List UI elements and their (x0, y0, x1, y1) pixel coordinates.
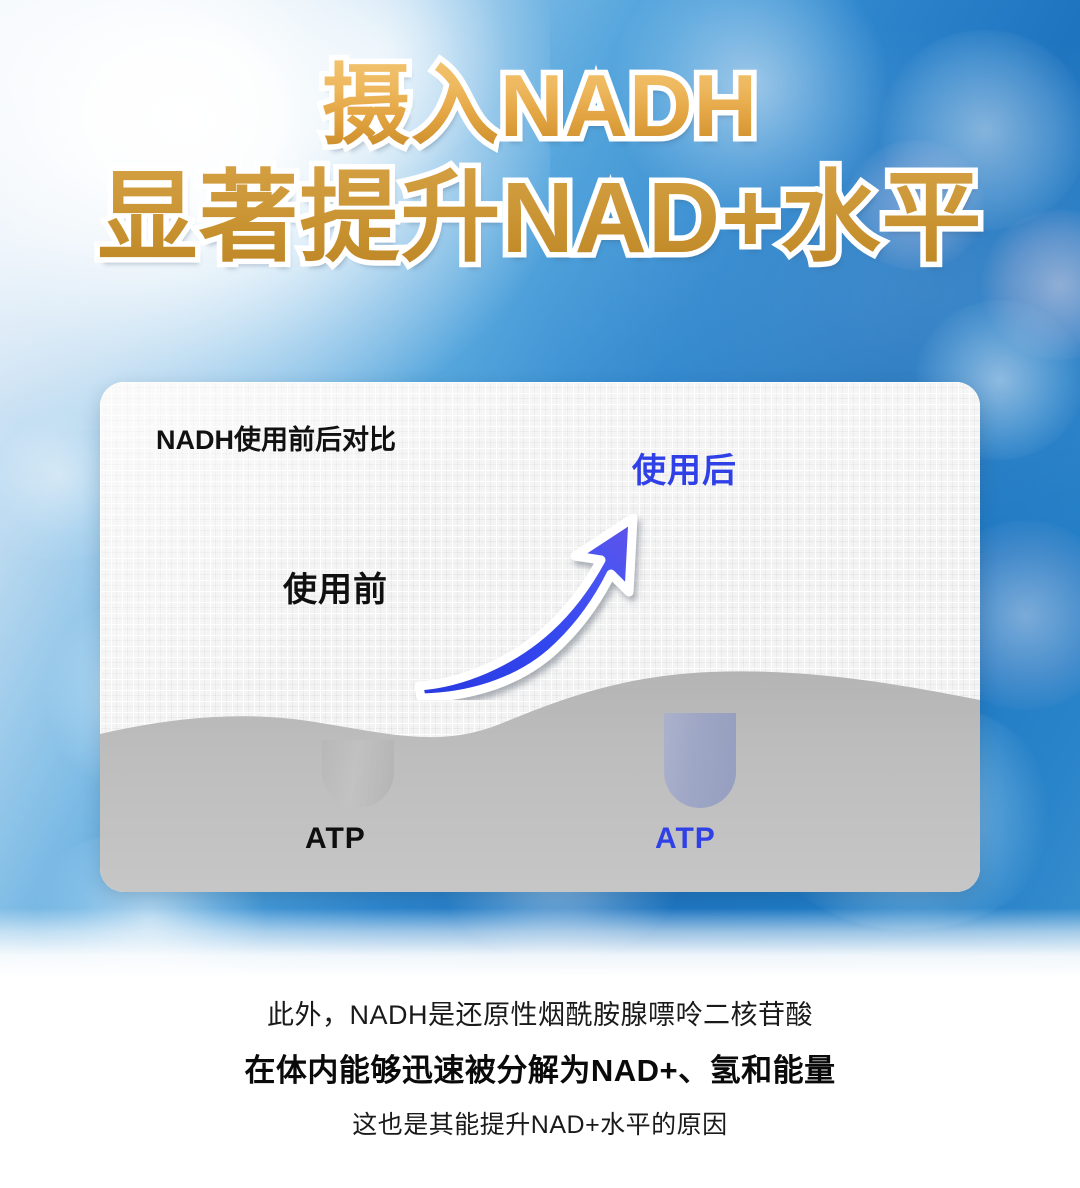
title-line-2-fill: 显著提升NAD+水平 (97, 162, 982, 274)
bottom-description: 此外，NADH是还原性烟酰胺腺嘌呤二核苷酸 在体内能够迅速被分解为NAD+、氢和… (0, 998, 1080, 1142)
axis-label-before: ATP (305, 822, 366, 856)
title-line-2: 显著提升NAD+水平 显著提升NAD+水平 (0, 168, 1080, 268)
label-before: 使用前 (283, 562, 388, 611)
growth-arrow-icon (415, 500, 665, 700)
promo-page: 摄入NADH 摄入NADH 显著提升NAD+水平 显著提升NAD+水平 NADH… (0, 0, 1080, 1188)
description-line-3: 这也是其能提升NAD+水平的原因 (0, 1109, 1080, 1142)
title-line-1-fill: 摄入NADH (322, 56, 758, 155)
background-fade (0, 908, 1080, 978)
description-line-2: 在体内能够迅速被分解为NAD+、氢和能量 (0, 1051, 1080, 1091)
arrow-path (419, 518, 633, 698)
label-after: 使用后 (632, 443, 737, 492)
hero-title: 摄入NADH 摄入NADH 显著提升NAD+水平 显著提升NAD+水平 (0, 62, 1080, 268)
card-heading: NADH使用前后对比 (156, 418, 396, 457)
growth-arrow-svg (415, 500, 665, 700)
description-line-1: 此外，NADH是还原性烟酰胺腺嘌呤二核苷酸 (0, 998, 1080, 1033)
axis-label-after: ATP (655, 822, 716, 856)
title-line-1: 摄入NADH 摄入NADH (0, 62, 1080, 150)
